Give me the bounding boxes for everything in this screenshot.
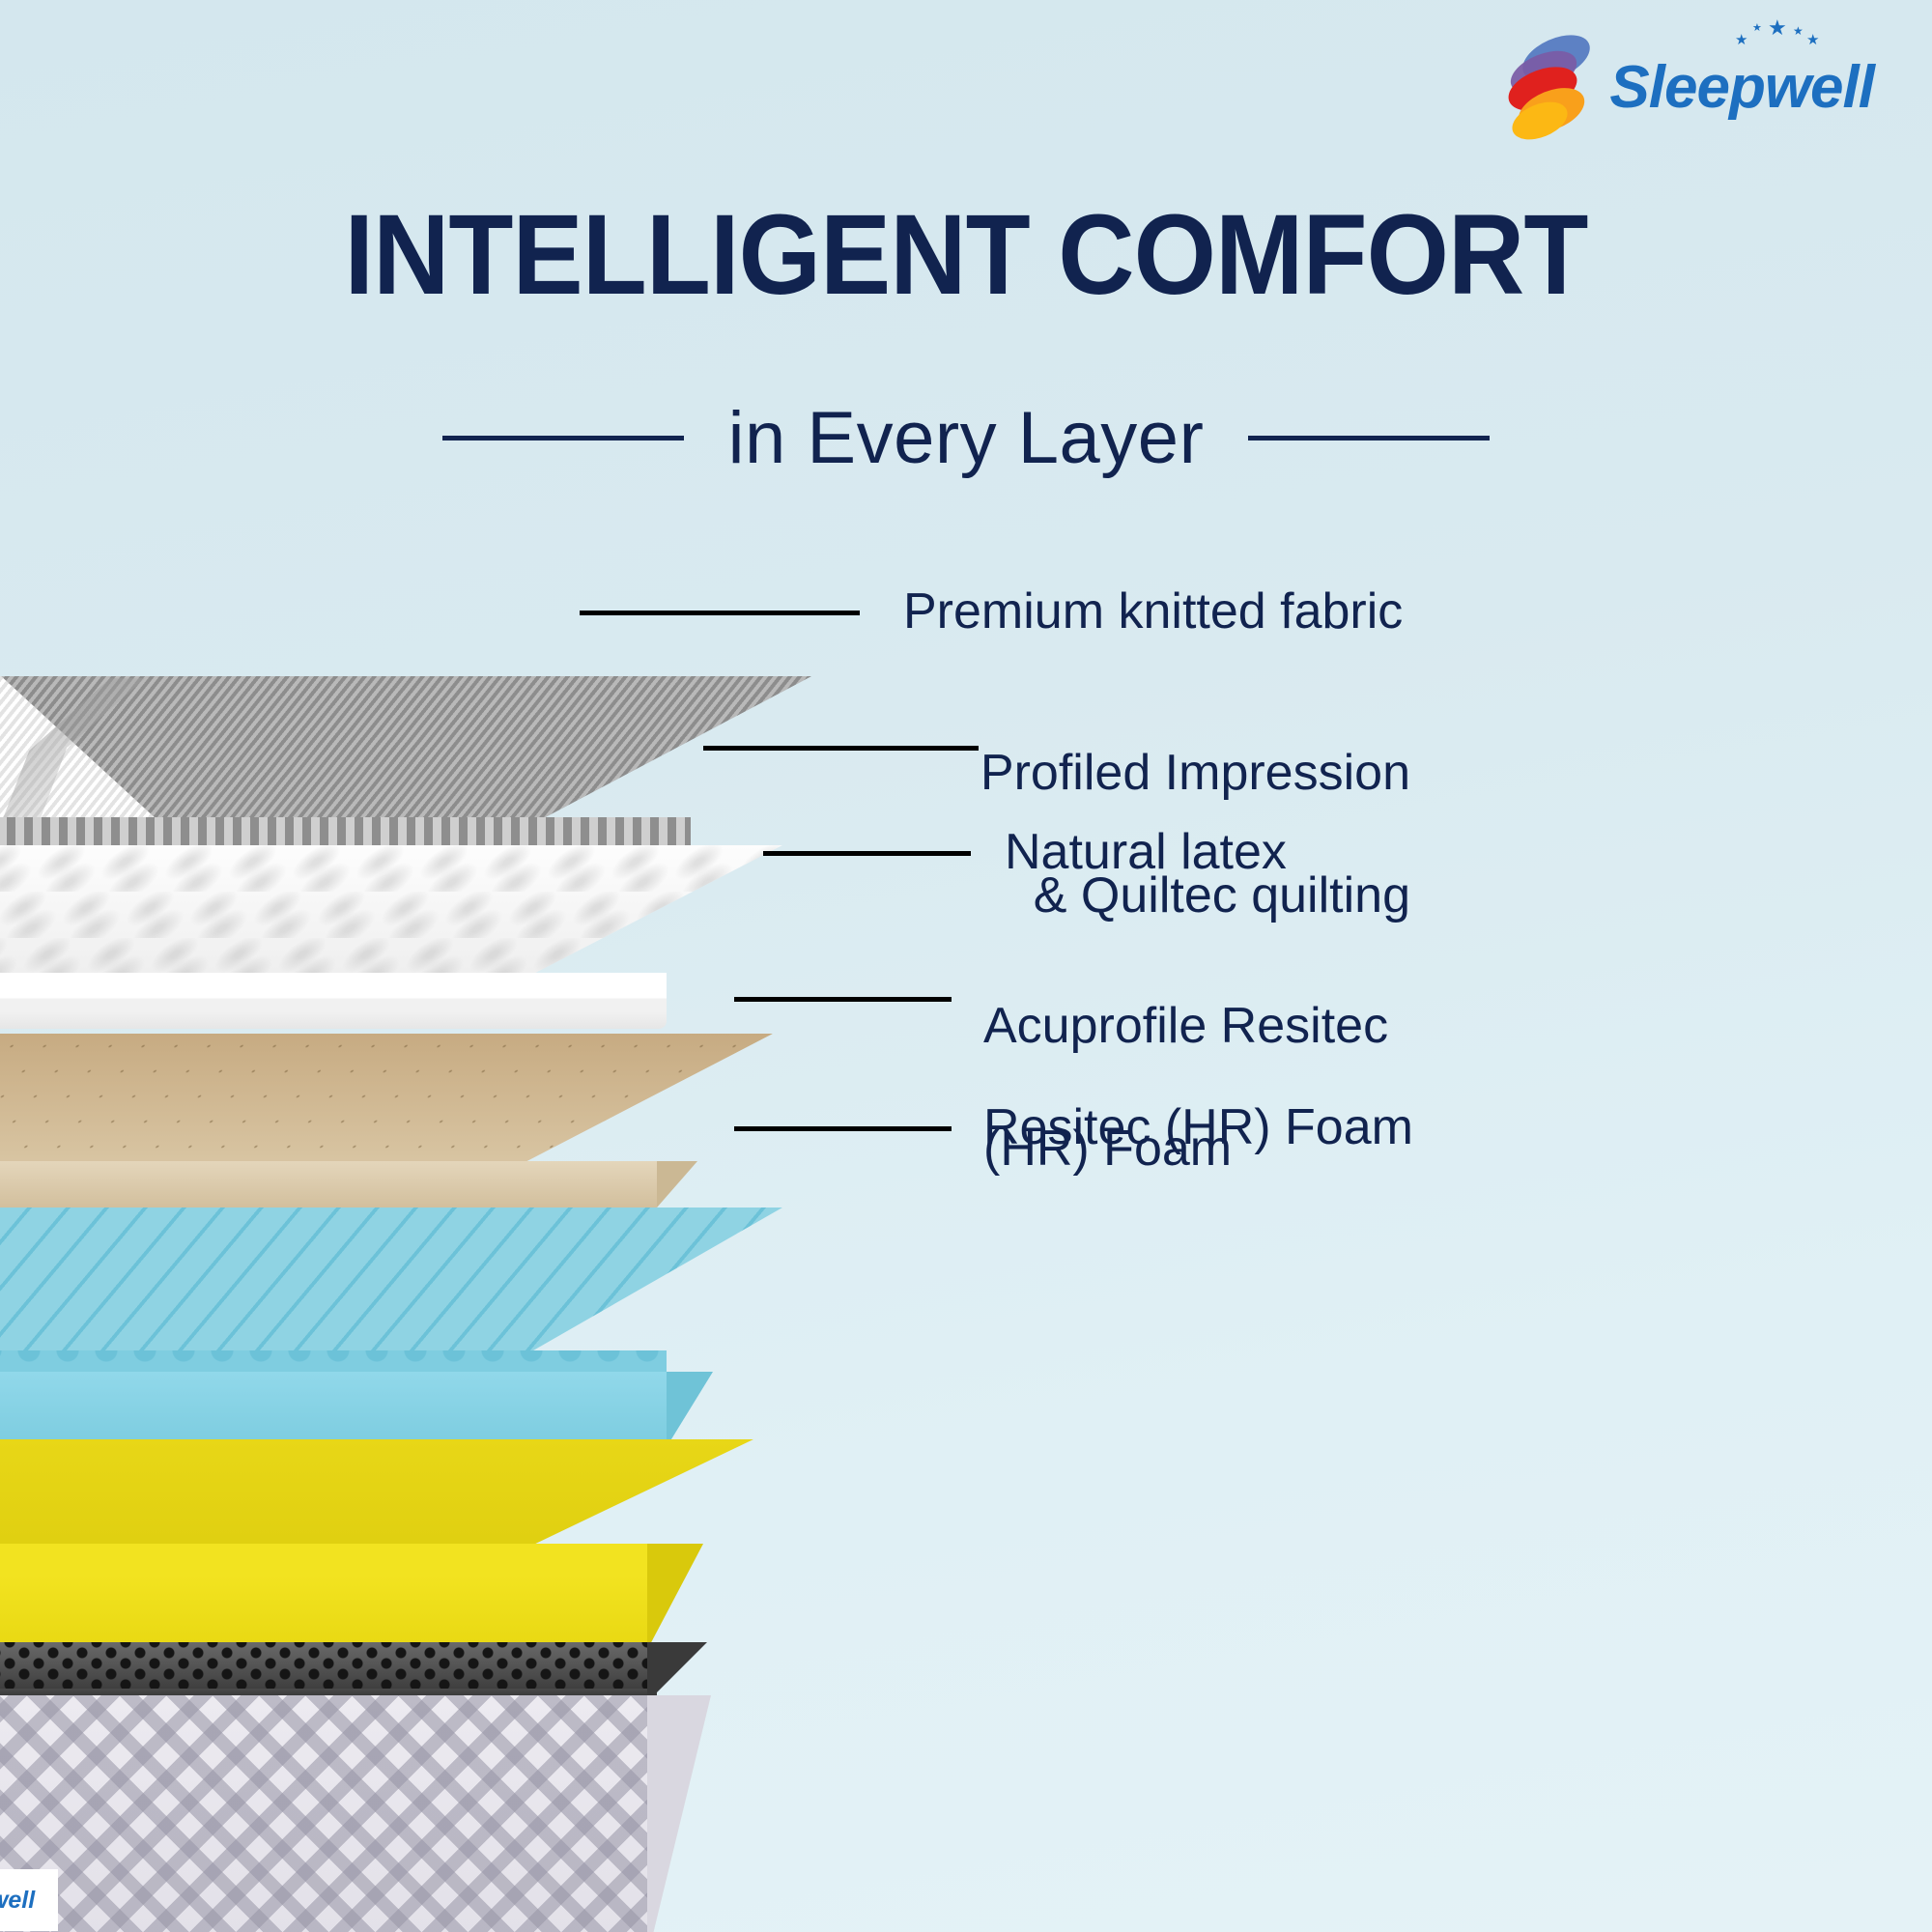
layer-profiled-impression-quiltec	[0, 845, 802, 1038]
sleepwell-fabric-tag: epwell	[0, 1869, 58, 1931]
layer-label-line-1: Acuprofile Resitec	[983, 998, 1388, 1054]
layer-premium-knitted-fabric	[0, 676, 811, 860]
mattress-mesh-border-band	[0, 1642, 720, 1702]
layer-label-profiled-impression-quiltec: Profiled Impression & Quiltec quilting	[855, 682, 1410, 927]
sleepwell-s-mark-icon	[1509, 37, 1584, 137]
mattress-layer-stack: epwell	[0, 676, 995, 1710]
layer-label-line-1: Profiled Impression	[980, 745, 1410, 801]
subtitle-rule-right	[1248, 436, 1490, 440]
leader-line-layer-5	[734, 1126, 952, 1131]
layer-label-natural-latex: Natural latex	[1005, 822, 1287, 883]
layer-resitec-foam	[0, 1439, 782, 1662]
stars-icon: ★★★★★	[1731, 21, 1818, 50]
mattress-base-cover: epwell	[0, 1695, 720, 1932]
page-title: INTELLIGENT COMFORT	[68, 198, 1864, 312]
page-subtitle: in Every Layer	[728, 396, 1205, 480]
layer-label-resitec-foam: Resitec (HR) Foam	[983, 1097, 1413, 1158]
subtitle-row: in Every Layer	[0, 396, 1932, 480]
layer-natural-latex	[0, 1034, 792, 1217]
leader-line-layer-1	[580, 611, 860, 615]
layer-acuprofile-resitec-foam	[0, 1207, 811, 1449]
leader-line-layer-4	[734, 997, 952, 1002]
layer-label-premium-knitted-fabric: Premium knitted fabric	[903, 582, 1403, 642]
brand-wordmark: Sleepwell	[1609, 53, 1874, 122]
infographic-canvas: Sleepwell ★★★★★ INTELLIGENT COMFORT in E…	[0, 0, 1932, 1932]
subtitle-rule-left	[442, 436, 684, 440]
brand-logo: Sleepwell ★★★★★	[1509, 37, 1874, 137]
